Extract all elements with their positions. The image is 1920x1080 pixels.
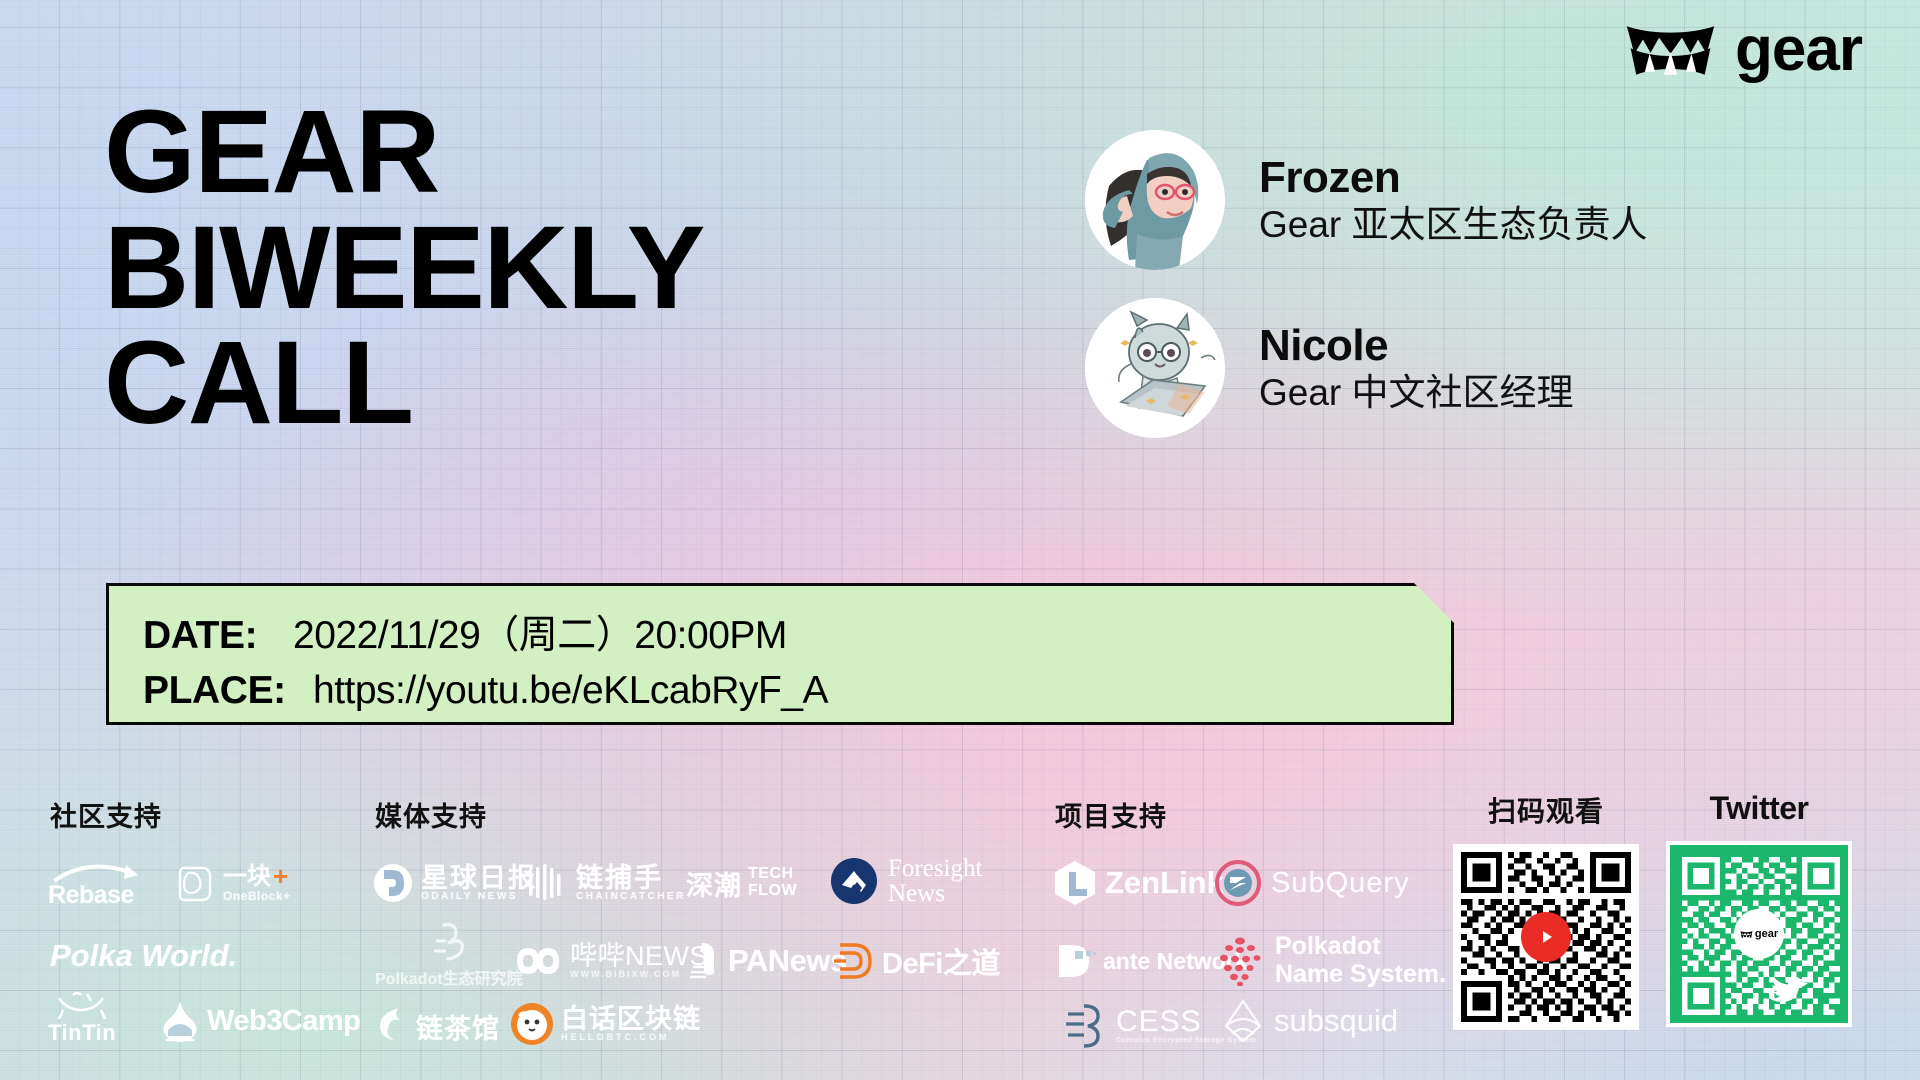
title-line-1: GEAR [104,95,984,211]
place-row: PLACE: https://youtu.be/eKLcabRyF_A [143,663,1451,718]
project-support-heading: 项目支持 [1055,795,1167,834]
logo-defi-dao[interactable]: DeFi之道 [830,930,1050,992]
qr-youtube-title: 扫码观看 [1453,790,1639,830]
frozen-avatar [1085,130,1225,270]
logo-rebase[interactable]: Rebase [48,855,178,917]
event-info-box: DATE: 2022/11/29（周二）20:00PM PLACE: https… [106,583,1454,725]
logo-subtext: WWW.BIBIXW.COM [570,970,708,979]
logo-text-b: News [888,881,982,907]
speaker-role: Gear 亚太区生态负责人 [1259,203,1648,247]
logo-text-tech: TECH [748,866,797,883]
logo-text: Polka World. [50,938,237,974]
logo-text: DeFi之道 [882,940,1000,982]
title-line-3: CALL [104,326,984,442]
youtube-play-icon [1521,912,1571,962]
logo-text: Polkadot生态研究院 [375,965,523,989]
qr-twitter-title: Twitter [1666,790,1852,827]
place-label: PLACE: [143,663,313,718]
logo-subquery[interactable]: SubQuery [1215,852,1445,914]
logo-subtext: ODAILY NEWS [421,892,537,903]
qr-twitter-block: Twitter [1666,790,1852,1027]
logo-subsquid[interactable]: subsquid [1222,990,1472,1052]
logo-text: Rebase [48,881,134,910]
nicole-avatar [1085,298,1225,438]
community-support-heading: 社区支持 [50,795,162,834]
logo-text: 链茶馆 [416,1007,500,1046]
logo-foresight-news[interactable]: Foresight News [830,850,1080,912]
logo-text: subsquid [1274,1003,1398,1039]
logo-text: PANews [728,943,847,979]
place-value-link[interactable]: https://youtu.be/eKLcabRyF_A [313,663,828,718]
logo-text: TinTin [48,1020,116,1046]
logo-oneblock[interactable]: 一块 + OneBlock+ [178,852,358,914]
logo-subtext: HELLOBTC.COM [561,1033,701,1042]
speaker-name: Nicole [1259,321,1574,372]
logo-subtext: OneBlock+ [223,890,291,903]
logo-text-flow: FLOW [748,883,797,900]
date-label: DATE: [143,608,293,663]
gear-logo-icon: gear [1734,909,1784,959]
title-line-2: BIWEEKLY [104,211,984,327]
date-row: DATE: 2022/11/29（周二）20:00PM [143,608,1451,663]
logo-text-a: Foresight [888,856,982,882]
date-value: 2022/11/29（周二）20:00PM [293,608,787,663]
speaker-role: Gear 中文社区经理 [1259,371,1574,415]
logo-text: Web3Camp [207,1005,360,1038]
gear-crown-icon [1623,22,1718,78]
brand-wordmark: gear [1735,19,1862,81]
logo-text-cn: 哔哔NEWS [570,942,708,970]
speaker-frozen: Frozen Gear 亚太区生态负责人 [1085,130,1648,270]
speaker-nicole: Nicole Gear 中文社区经理 [1085,298,1648,438]
gear-mini-word: gear [1755,928,1778,940]
logo-text-b: Name System. [1275,960,1446,988]
qr-youtube-code[interactable] [1453,844,1639,1030]
logo-text: ZenLink [1105,865,1224,901]
gear-brand-logo: gear [1623,19,1862,81]
logo-subtext: CHAINCATCHER [576,892,686,903]
logo-text-cn: 链捕手 [576,864,686,892]
logo-text-cn: 星球日报 [421,864,537,892]
logo-tintin[interactable]: TinTin [48,988,158,1050]
speaker-list: Frozen Gear 亚太区生态负责人 [1085,130,1648,438]
logo-text: SubQuery [1271,867,1410,900]
poster-canvas: gear GEAR BIWEEKLY CALL [0,0,1920,1080]
qr-twitter-code[interactable]: gear [1666,841,1852,1027]
logo-text-a: Polkadot [1275,932,1446,960]
logo-plus-icon: + [273,863,288,890]
logo-text-cn: 一块 [223,864,271,889]
logo-polkaworld[interactable]: Polka World. [50,925,330,987]
qr-youtube-block: 扫码观看 [1453,790,1639,1030]
logo-web3camp[interactable]: Web3Camp [160,990,390,1052]
logo-text-cn: 深潮 [686,864,742,903]
page-title: GEAR BIWEEKLY CALL [104,95,984,442]
logo-hellobtc[interactable]: 白话区块链 HELLOBTC.COM [510,993,790,1055]
logo-text-cn: 白话区块链 [561,1005,701,1033]
speaker-name: Frozen [1259,153,1648,204]
media-support-heading: 媒体支持 [375,795,487,834]
